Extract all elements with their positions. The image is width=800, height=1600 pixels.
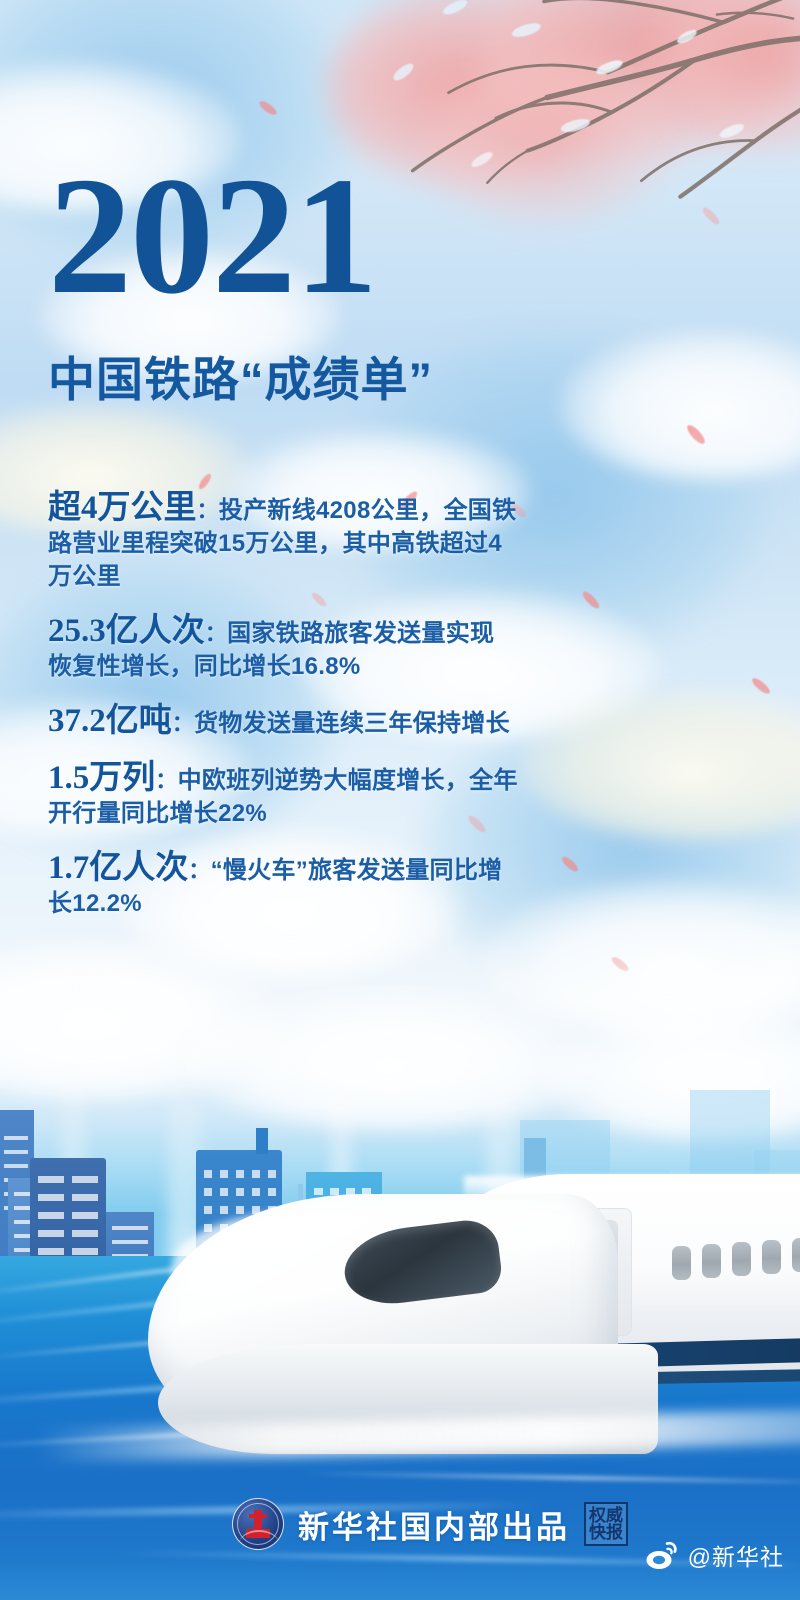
stat-key: 1.5万列	[48, 760, 155, 796]
stat-colon: ：	[197, 498, 219, 523]
status-badge: 权威 快报	[584, 1502, 628, 1546]
stat-key: 37.2亿吨	[48, 703, 172, 739]
credit-row: 新华社国内部出品 权威 快报	[232, 1498, 628, 1550]
stat-colon: ：	[205, 621, 227, 646]
train-window	[792, 1238, 800, 1272]
stat-colon: ：	[155, 768, 177, 793]
badge-line-1: 权威	[589, 1507, 623, 1524]
high-speed-train-illustration	[148, 1168, 800, 1498]
badge-line-2: 快报	[589, 1524, 623, 1541]
train-window	[732, 1242, 751, 1276]
building-antenna	[256, 1128, 268, 1154]
year-heading: 2021	[48, 152, 376, 320]
stat-item: 超4万公里：投产新线4208公里，全国铁路营业里程突破15万公里，其中高铁超过4…	[48, 492, 518, 593]
poster-canvas: 2021 中国铁路“成绩单” 超4万公里：投产新线4208公里，全国铁路营业里程…	[0, 0, 800, 1600]
stat-key: 1.7亿人次	[48, 850, 188, 886]
falling-petal	[750, 675, 771, 696]
page-title: 中国铁路“成绩单”	[48, 356, 433, 403]
stat-key: 超4万公里	[48, 490, 197, 526]
footer: 新华社国内部出品 权威 快报 @新华社	[0, 1492, 800, 1600]
stat-key: 25.3亿人次	[48, 613, 205, 649]
weibo-attribution[interactable]: @新华社	[646, 1538, 784, 1572]
train-window	[762, 1240, 781, 1274]
weibo-icon[interactable]	[646, 1540, 680, 1570]
stats-list: 超4万公里：投产新线4208公里，全国铁路营业里程突破15万公里，其中高铁超过4…	[48, 492, 518, 942]
stat-desc: 货物发送量连续三年保持增长	[194, 710, 510, 737]
stat-item: 25.3亿人次：国家铁路旅客发送量实现恢复性增长，同比增长16.8%	[48, 615, 518, 683]
stat-colon: ：	[188, 858, 210, 883]
train-window	[702, 1244, 721, 1278]
stat-item: 1.7亿人次：“慢火车”旅客发送量同比增长12.2%	[48, 852, 518, 920]
xinhua-emblem-icon	[232, 1498, 284, 1550]
stat-item: 37.2亿吨：货物发送量连续三年保持增长	[48, 705, 518, 740]
credit-text: 新华社国内部出品	[298, 1502, 570, 1547]
stat-item: 1.5万列：中欧班列逆势大幅度增长，全年开行量同比增长22%	[48, 762, 518, 830]
weibo-handle[interactable]: @新华社	[688, 1538, 784, 1572]
train-window	[672, 1246, 691, 1280]
stat-colon: ：	[172, 711, 194, 736]
